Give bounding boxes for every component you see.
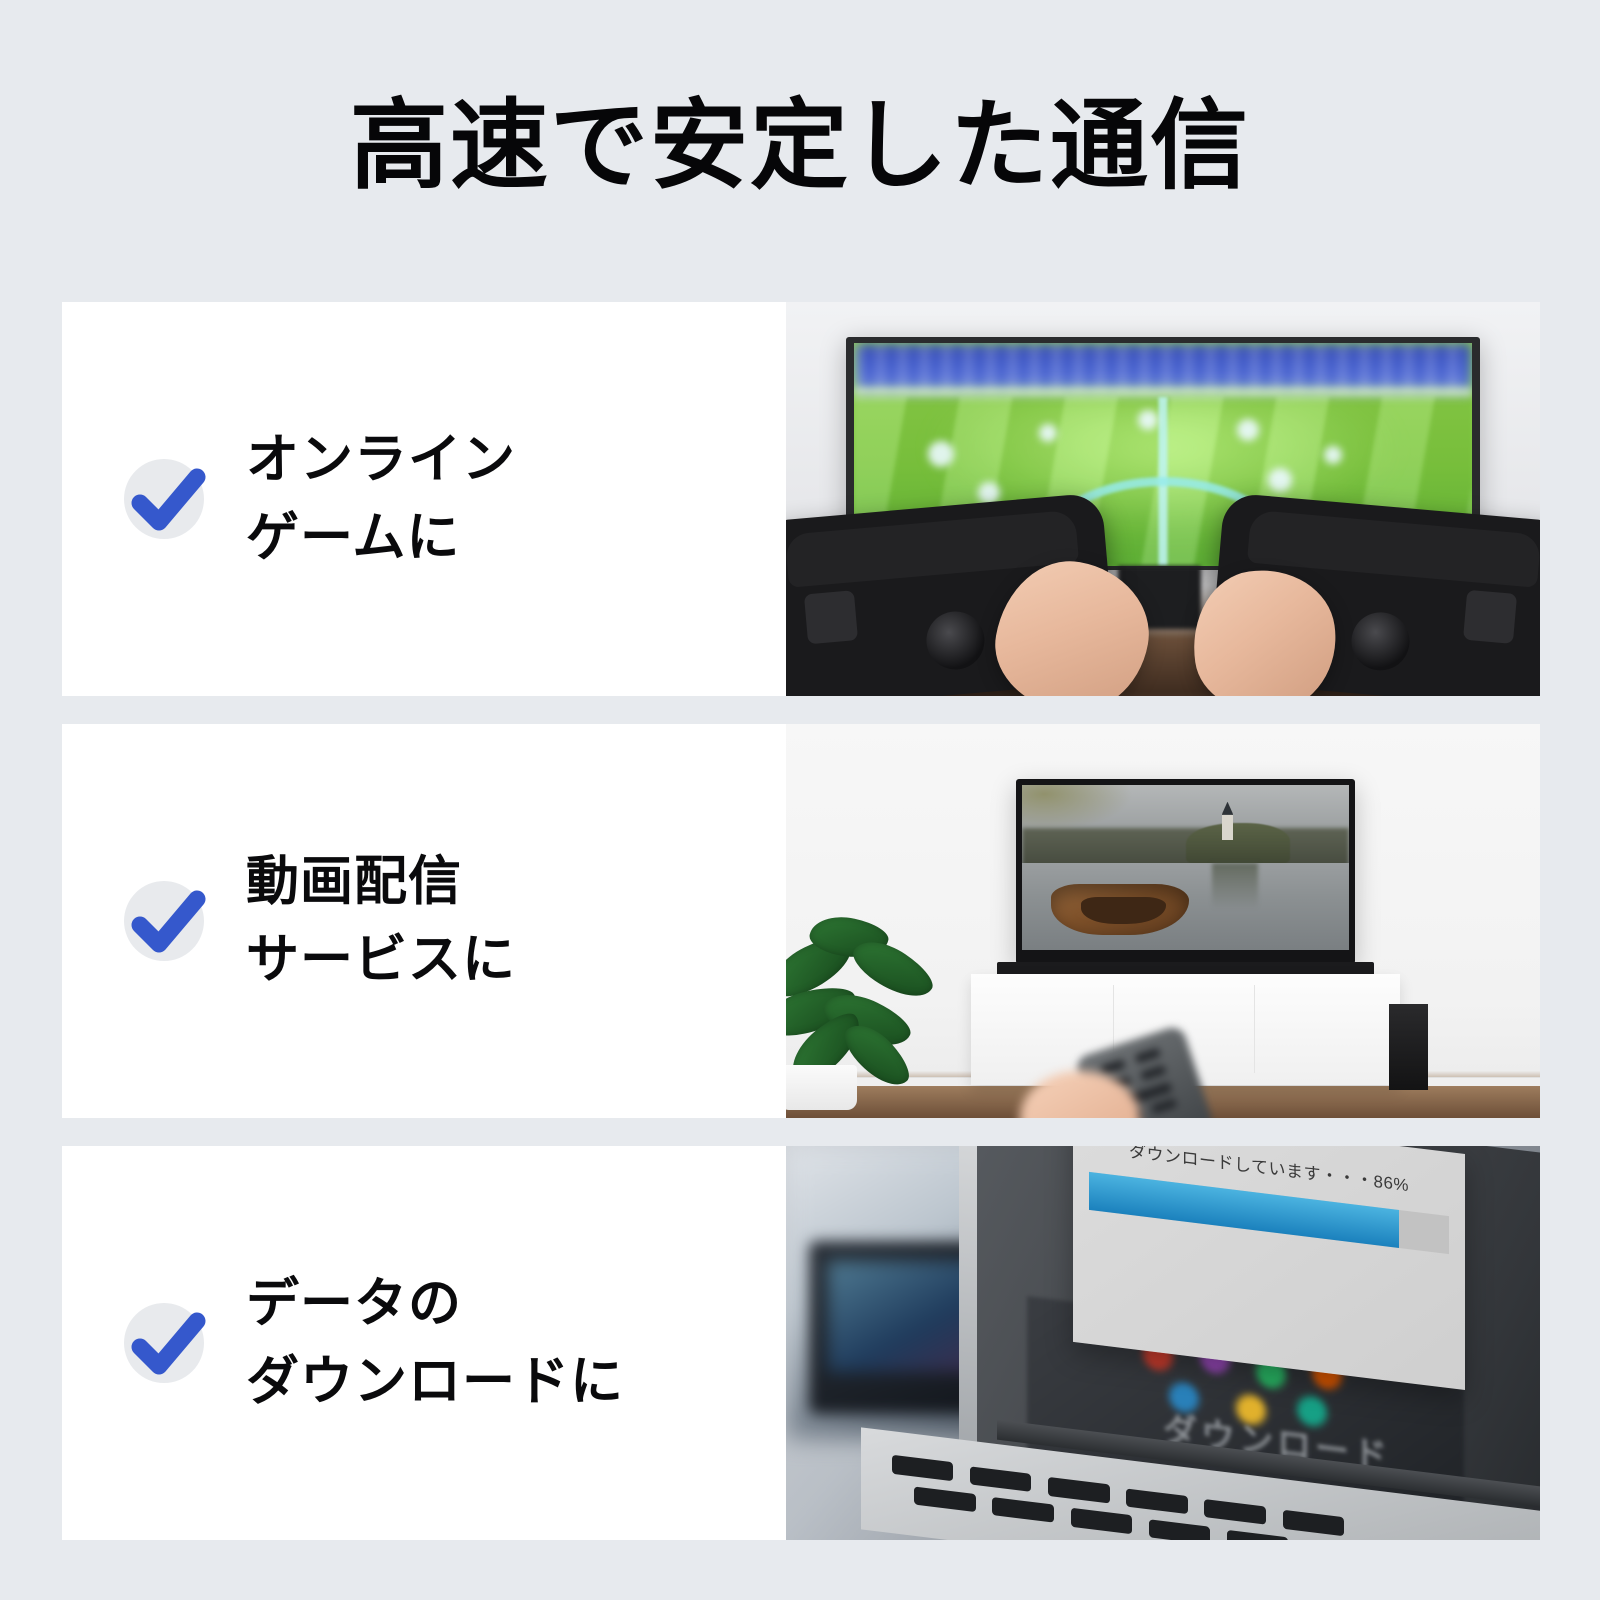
feature-card-online-gaming: オンライン ゲームに (62, 302, 1540, 696)
online-gaming-photo (786, 302, 1540, 696)
feature-card-video-streaming: 動画配信 サービスに (62, 724, 1540, 1118)
card-text-panel: 動画配信 サービスに (62, 724, 786, 1118)
check-icon (124, 881, 204, 961)
card-label: データの ダウンロードに (246, 1265, 624, 1421)
card-label: 動画配信 サービスに (246, 843, 516, 999)
video-streaming-photo (786, 724, 1540, 1118)
card-text-panel: データの ダウンロードに (62, 1146, 786, 1540)
promo-page: 高速で安定した通信 オンライン ゲームに (0, 0, 1600, 1600)
check-icon (124, 1303, 204, 1383)
page-title: 高速で安定した通信 (0, 86, 1600, 204)
card-text-panel: オンライン ゲームに (62, 302, 786, 696)
feature-card-data-download: データの ダウンロードに ダウンロード ダウンロードしています・・・86% (62, 1146, 1540, 1540)
data-download-photo: ダウンロード ダウンロードしています・・・86% (786, 1146, 1540, 1540)
card-label: オンライン ゲームに (246, 421, 516, 577)
check-icon (124, 459, 204, 539)
